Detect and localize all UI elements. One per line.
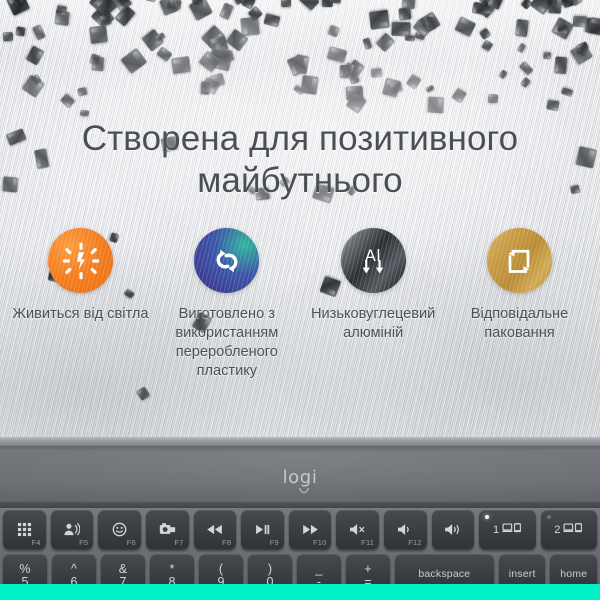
key-volume-up[interactable] — [432, 510, 475, 549]
function-key-label: F10 — [313, 538, 327, 547]
plastic-pellet — [498, 69, 508, 79]
plastic-pellet — [452, 89, 467, 105]
plastic-pellet — [363, 38, 373, 51]
screenshot-icon — [159, 522, 176, 537]
key-f10[interactable]: F10 — [289, 510, 332, 549]
plastic-pellet — [219, 2, 235, 20]
device-switch-icon — [502, 522, 522, 537]
key-label: insert — [509, 568, 536, 580]
fast-forward-icon — [302, 524, 319, 535]
plastic-pellet — [548, 0, 562, 14]
function-key-label: F4 — [31, 538, 40, 547]
low-carbon-aluminium-icon: Al — [341, 228, 406, 293]
headline-line-2: майбутнього — [0, 160, 600, 202]
plastic-pellet — [156, 46, 172, 62]
plastic-pellet — [136, 386, 150, 400]
headline-line-1: Створена для позитивного — [82, 119, 518, 158]
key-f12[interactable]: F12 — [384, 510, 427, 549]
feature-label-packaging: Відповідальне паковання — [449, 305, 590, 343]
device-switch-icon — [563, 522, 583, 537]
key-device-2[interactable]: 2 — [541, 510, 597, 549]
feature-item-solar: Живиться від світла — [10, 228, 151, 324]
dictation-icon — [63, 522, 80, 537]
plastic-pellet — [391, 21, 410, 36]
plastic-pellet — [326, 45, 347, 63]
solar-light-bolt-icon — [48, 228, 113, 293]
plastic-pellet — [520, 77, 531, 88]
accent-bottom-bar — [0, 584, 600, 600]
key-shift-label: + — [364, 563, 371, 575]
device-switch-group: 2 — [554, 522, 583, 537]
plastic-pellet — [398, 7, 411, 20]
key-device-1[interactable]: 1 — [479, 510, 535, 549]
feature-item-aluminium: Al Низьковуглецевий алюміній — [303, 228, 444, 343]
plastic-pellet — [572, 16, 587, 28]
device-number-label: 2 — [554, 524, 560, 536]
key-shift-label: & — [119, 563, 127, 575]
function-key-label: F11 — [361, 538, 374, 547]
plastic-pellet — [171, 56, 191, 74]
plastic-pellet — [370, 68, 382, 77]
plastic-pellet — [55, 5, 67, 16]
plastic-pellet — [60, 94, 75, 109]
keyboard: logi F4F5F6F7F8F9F10F11F1212 %5^6&7*8(9)… — [0, 437, 600, 600]
key-f8[interactable]: F8 — [194, 510, 237, 549]
plastic-pellet — [406, 74, 422, 90]
key-label: home — [560, 568, 587, 580]
plastic-pellet — [514, 18, 528, 37]
plastic-pellet — [22, 74, 45, 97]
plastic-pellet — [561, 88, 573, 98]
feature-label-solar: Живиться від світла — [13, 305, 149, 324]
plastic-pellet — [330, 0, 341, 3]
function-key-label: F9 — [270, 538, 279, 547]
key-f7[interactable]: F7 — [146, 510, 189, 549]
key-shift-label: * — [170, 563, 175, 575]
feature-list: Живиться від світла Виготовлено з викори… — [10, 228, 590, 381]
plastic-pellet — [299, 0, 320, 11]
feature-item-recycled-plastic: Виготовлено з використанням переробленог… — [156, 228, 297, 381]
plastic-pellet — [517, 43, 527, 53]
emoji-icon — [112, 522, 127, 537]
key-f4[interactable]: F4 — [3, 510, 46, 549]
plastic-pellet — [427, 96, 444, 113]
plastic-pellet — [369, 9, 390, 29]
plastic-pellet — [32, 24, 46, 41]
plastic-pellet — [145, 0, 156, 3]
hero-headline: Створена для позитивного майбутнього — [0, 118, 600, 202]
key-f5[interactable]: F5 — [51, 510, 94, 549]
plastic-pellet — [543, 51, 552, 59]
key-shift-label: ^ — [71, 563, 77, 575]
key-shift-label: ) — [268, 563, 272, 575]
plastic-pellet — [454, 16, 475, 36]
keyboard-top-lip — [0, 437, 600, 446]
key-f9[interactable]: F9 — [241, 510, 284, 549]
plastic-pellet — [158, 0, 178, 15]
plastic-pellet — [25, 45, 44, 66]
plastic-pellet — [546, 100, 559, 111]
device-switch-group: 1 — [493, 522, 522, 537]
key-shift-label: % — [19, 563, 30, 575]
plastic-pellet — [488, 93, 498, 103]
volume-up-icon — [444, 523, 462, 536]
plastic-pellet — [210, 72, 226, 87]
feature-item-packaging: Відповідальне паковання — [449, 228, 590, 343]
plastic-pellet — [482, 39, 494, 51]
plastic-pellet — [479, 27, 491, 40]
function-key-label: F6 — [127, 538, 136, 547]
responsible-packaging-icon — [487, 228, 552, 293]
key-f11[interactable]: F11 — [336, 510, 379, 549]
function-key-label: F8 — [222, 538, 231, 547]
key-f6[interactable]: F6 — [98, 510, 141, 549]
product-hero-screenshot: Створена для позитивного майбутнього — [0, 0, 600, 600]
function-key-label: F5 — [79, 538, 88, 547]
device-led-indicator — [547, 515, 551, 519]
volume-mute-icon — [349, 523, 366, 536]
volume-down-icon — [397, 523, 413, 536]
recycled-plastic-loop-icon — [194, 228, 259, 293]
app-grid-icon — [17, 522, 32, 537]
function-key-label: F12 — [408, 538, 422, 547]
plastic-pellet — [553, 56, 567, 74]
feature-label-aluminium: Низьковуглецевий алюміній — [303, 305, 444, 343]
plastic-pellet — [89, 25, 108, 44]
plastic-pellet — [263, 13, 280, 27]
key-shift-label: _ — [315, 563, 322, 575]
plastic-pellet — [80, 109, 90, 116]
feature-label-recycled-plastic: Виготовлено з використанням переробленог… — [156, 305, 297, 381]
plastic-pellet — [121, 47, 148, 74]
plastic-pellet — [404, 34, 415, 41]
rewind-icon — [206, 524, 223, 535]
plastic-pellet — [92, 57, 105, 72]
key-label: backspace — [418, 568, 470, 580]
plastic-pellet — [402, 0, 416, 9]
key-shift-label: ( — [219, 563, 223, 575]
play-pause-icon — [255, 524, 270, 535]
plastic-pellet — [389, 81, 404, 94]
function-key-label: F7 — [174, 538, 183, 547]
plastic-pellet — [15, 26, 25, 36]
device-led-indicator — [485, 515, 489, 519]
plastic-pellet — [77, 87, 88, 97]
function-key-row: F4F5F6F7F8F9F10F11F1212 — [0, 510, 600, 549]
plastic-pellet — [519, 61, 533, 75]
device-number-label: 1 — [493, 524, 499, 536]
plastic-pellet — [280, 0, 290, 7]
plastic-pellet — [3, 32, 13, 42]
plastic-pellet — [425, 84, 435, 92]
plastic-pellet — [328, 24, 341, 37]
logi-brand-logo: logi — [0, 467, 600, 488]
